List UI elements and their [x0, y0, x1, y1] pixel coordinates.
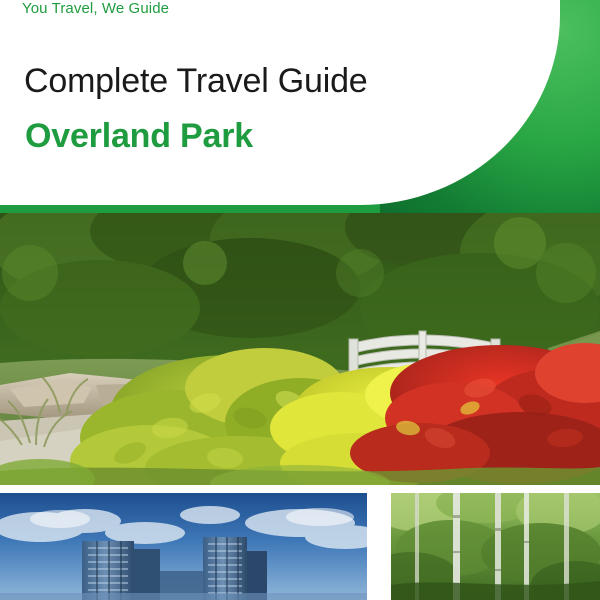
garden-with-bench-photo: [0, 213, 600, 485]
bottom-photo-row: [0, 493, 600, 600]
city-title: Overland Park: [25, 117, 253, 156]
header-white-panel: [0, 0, 560, 205]
cover-header: You Travel, We Guide Complete Travel Gui…: [0, 0, 600, 213]
forest-birch-trees-photo: [391, 493, 600, 600]
page-title: Complete Travel Guide: [24, 62, 368, 101]
tagline: You Travel, We Guide: [22, 0, 169, 17]
hero-image: [0, 213, 600, 485]
forest-photo-frame: [391, 493, 600, 600]
city-skyline-photo: [0, 493, 367, 600]
city-photo-frame: [0, 493, 367, 600]
